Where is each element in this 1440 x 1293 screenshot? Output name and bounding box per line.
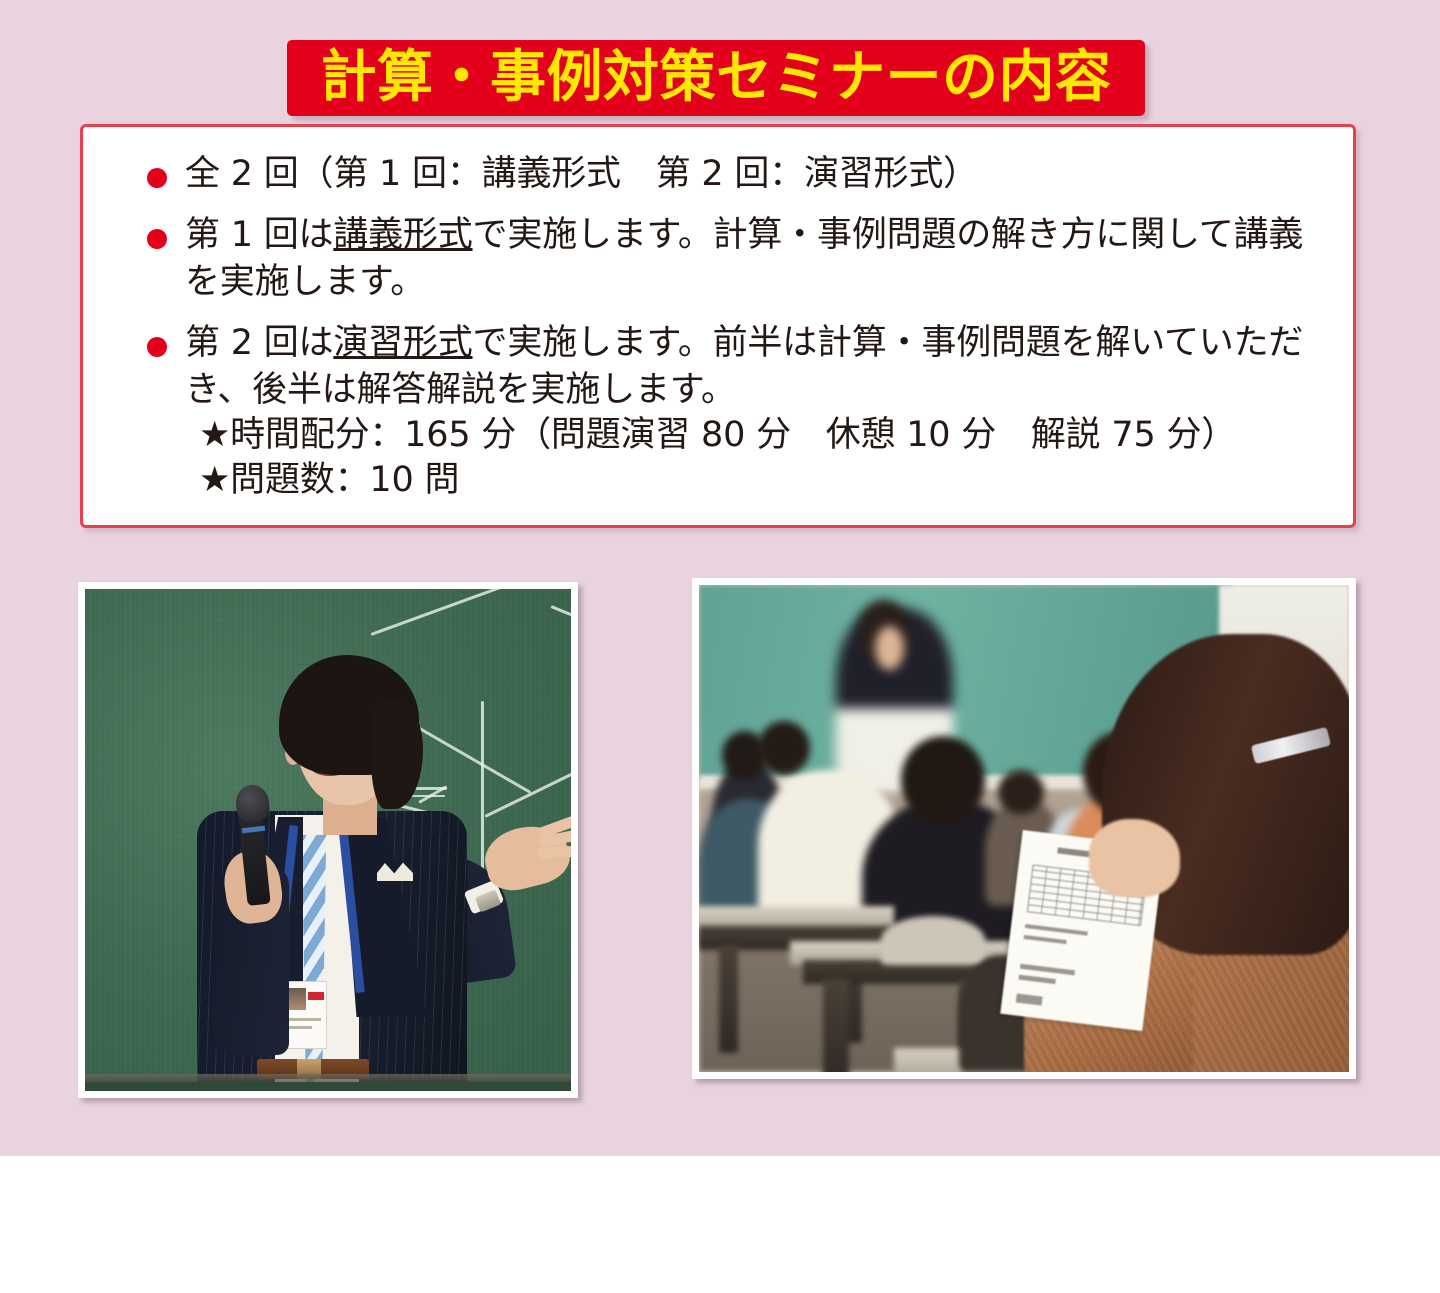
student-head <box>758 721 810 775</box>
list-item: 第 2 回は演習形式で実施します。前半は計算・事例問題を解いていただき、後半は解… <box>143 320 1333 503</box>
foreground-person-hand <box>1089 819 1180 897</box>
chalkboard-frame-bottom <box>85 1082 571 1091</box>
handout-text-line <box>1024 935 1067 945</box>
list-item: 全 2 回（第 1 回：講義形式 第 2 回：演習形式） <box>143 151 1333 198</box>
detail-line-question-count: ★問題数：10 問 <box>185 458 1333 503</box>
page-title: 計算・事例対策セミナーの内容 <box>321 50 1112 106</box>
bullet-dot-icon <box>147 229 167 249</box>
handout-text-line <box>1019 975 1056 984</box>
chalk-line <box>481 701 484 871</box>
id-badge-accent <box>308 992 324 1000</box>
handout-answer-box <box>1016 994 1043 1006</box>
handout-text-line <box>1020 964 1074 975</box>
list-item-text: 全 2 回（第 1 回：講義形式 第 2 回：演習形式） <box>185 151 1333 198</box>
photo-seminar-audience <box>692 578 1356 1079</box>
section-title-banner: 計算・事例対策セミナーの内容 <box>287 40 1145 116</box>
photo-lecturer-image <box>85 589 571 1091</box>
detail-line-time-allocation: ★時間配分：165 分（問題演習 80 分 休憩 10 分 解説 75 分） <box>185 413 1333 458</box>
finger <box>537 846 571 860</box>
desk-leg <box>823 979 849 1072</box>
desk-leg <box>719 945 739 1052</box>
bullet-dot-icon <box>147 337 167 357</box>
id-badge-photo <box>288 988 306 1010</box>
photo-audience-image <box>699 585 1349 1072</box>
photo-lecturer-at-chalkboard <box>78 582 578 1098</box>
page-root: 計算・事例対策セミナーの内容 全 2 回（第 1 回：講義形式 第 2 回：演習… <box>0 0 1440 1293</box>
bullet-list: 全 2 回（第 1 回：講義形式 第 2 回：演習形式） 第 1 回は講義形式で… <box>143 151 1333 503</box>
list-item: 第 1 回は講義形式で実施します。計算・事例問題の解き方に関して講義を実施します… <box>143 212 1333 306</box>
list-item-text: 第 1 回は講義形式で実施します。計算・事例問題の解き方に関して講義を実施します… <box>185 212 1333 306</box>
lecturer-face-silhouette <box>875 626 904 670</box>
chair-back <box>881 916 985 965</box>
id-badge-text-line <box>288 1018 321 1021</box>
seminar-details-card: 全 2 回（第 1 回：講義形式 第 2 回：演習形式） 第 1 回は講義形式で… <box>80 124 1356 528</box>
list-item-text: 第 2 回は演習形式で実施します。前半は計算・事例問題を解いていただき、後半は解… <box>185 320 1333 414</box>
id-badge-text-line <box>288 1026 312 1029</box>
bullet-dot-icon <box>147 168 167 188</box>
student-head <box>998 770 1044 814</box>
student-head <box>901 736 986 824</box>
handout-text-line <box>1025 924 1088 936</box>
